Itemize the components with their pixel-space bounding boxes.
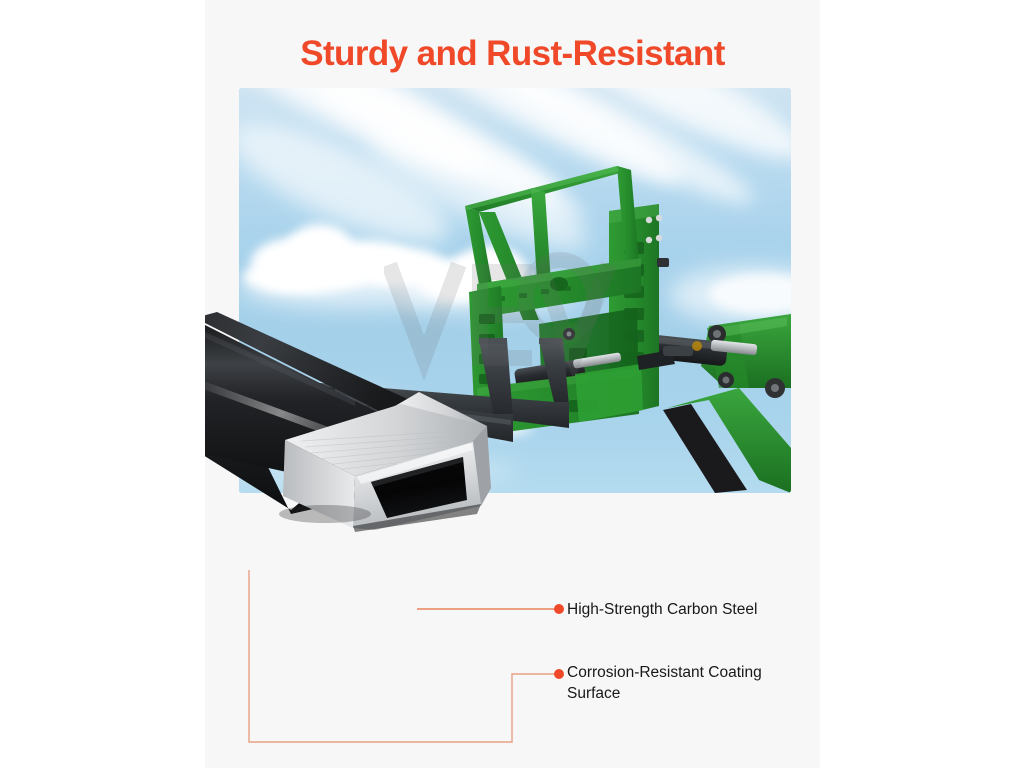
callout-label-high-strength-carbon-steel: High-Strength Carbon Steel [567, 599, 757, 620]
callout-label-corrosion-resistant-coating-surface: Corrosion-Resistant Coating Surface [567, 662, 762, 704]
fork-cross-section-closeup [205, 300, 505, 530]
product-feature-page: Sturdy and Rust-Resistant [0, 0, 1024, 768]
leader-line-corrosion-resistant-coating-surface [249, 570, 555, 742]
callout-dot-high-strength-carbon-steel [554, 604, 564, 614]
page-title: Sturdy and Rust-Resistant [205, 33, 820, 75]
content-card: Sturdy and Rust-Resistant [205, 0, 820, 768]
callout-dot-corrosion-resistant-coating-surface [554, 669, 564, 679]
